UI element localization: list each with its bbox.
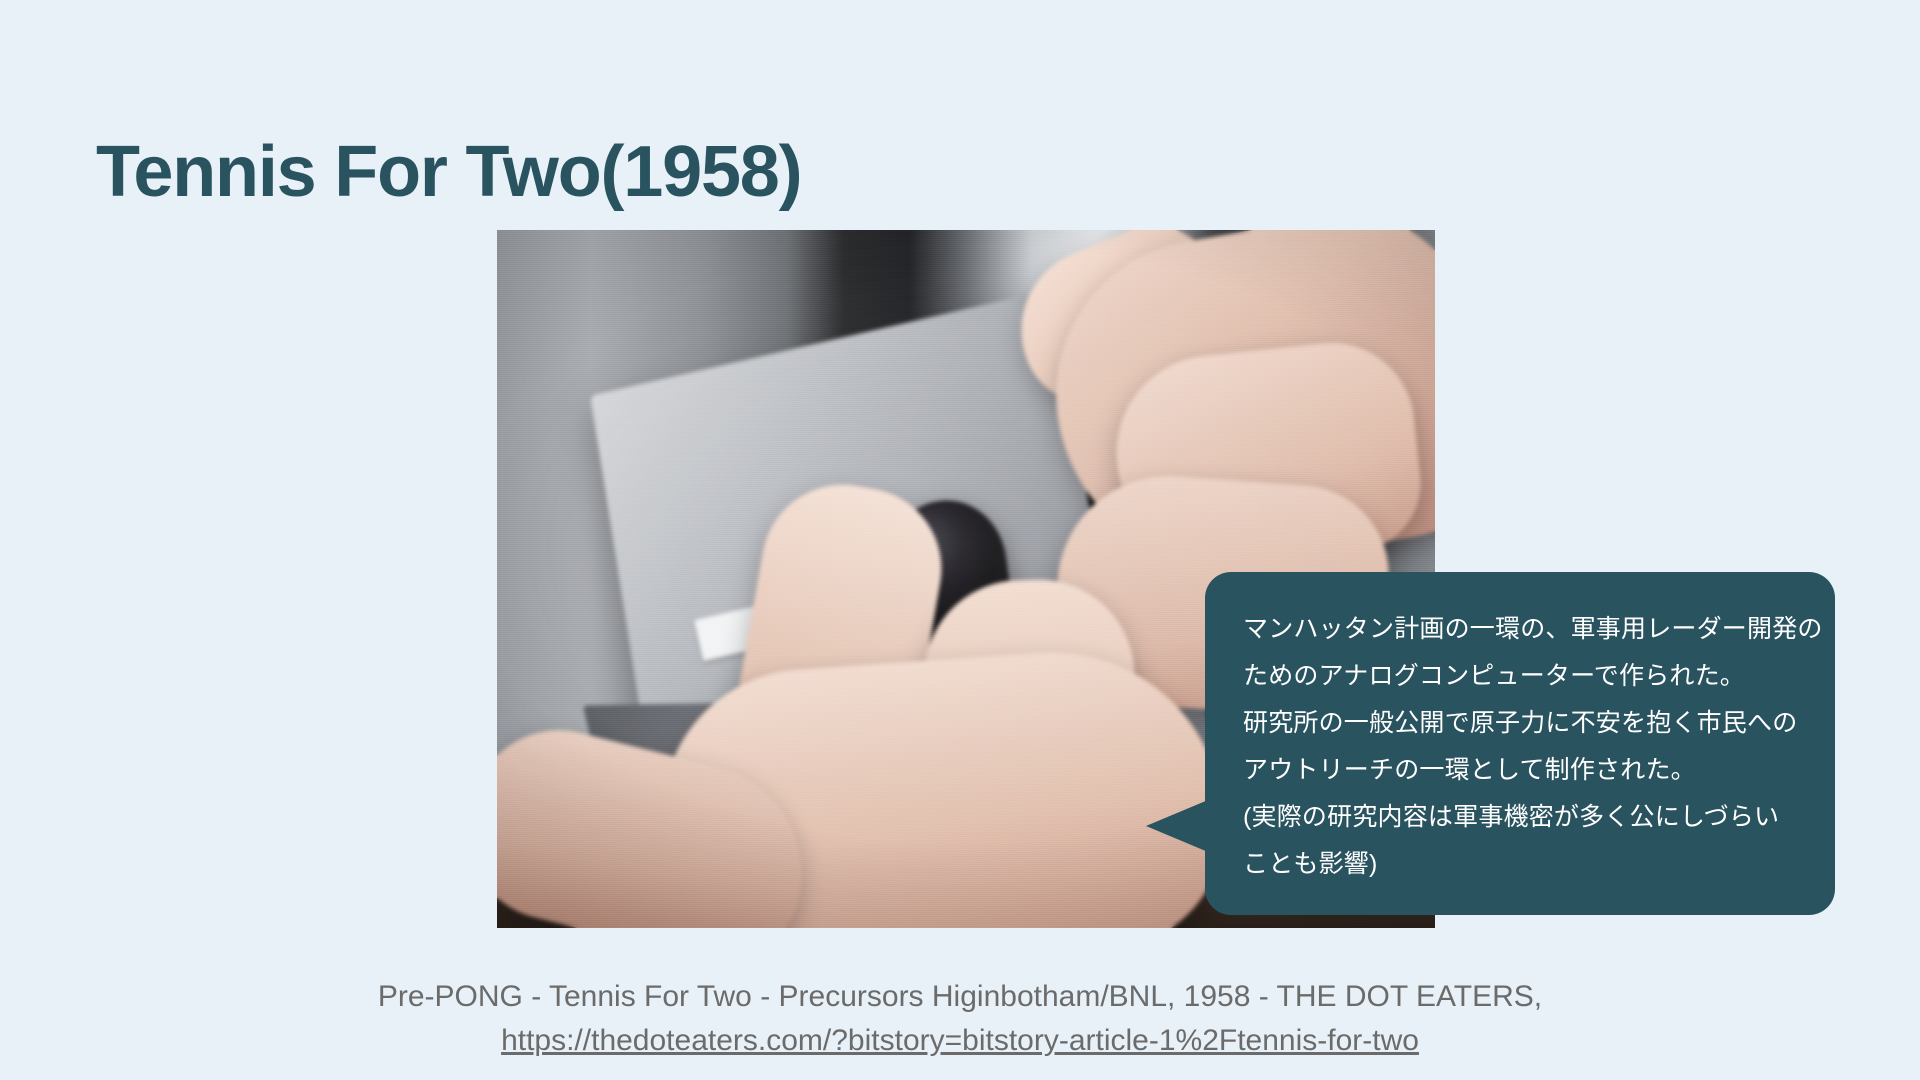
caption-source-link[interactable]: https://thedoteaters.com/?bitstory=bitst… <box>501 1024 1419 1057</box>
slide-canvas: Tennis For Two(1958) マンハッタン計画の一環の、軍事用レーダ… <box>0 0 1920 1080</box>
callout-tail-icon <box>1146 800 1208 852</box>
callout-line: ためのアナログコンピューターで作られた。 <box>1243 653 1801 700</box>
caption: Pre-PONG - Tennis For Two - Precursors H… <box>0 975 1920 1063</box>
callout-line: マンハッタン計画の一環の、軍事用レーダー開発の <box>1243 606 1801 653</box>
callout-line: 研究所の一般公開で原子力に不安を抱く市民への <box>1243 700 1801 747</box>
callout-line: アウトリーチの一環として制作された。 <box>1243 747 1801 794</box>
page-title: Tennis For Two(1958) <box>96 136 801 208</box>
callout-annotation-box: マンハッタン計画の一環の、軍事用レーダー開発の ためのアナログコンピューターで作… <box>1205 572 1835 915</box>
callout-line: (実際の研究内容は軍事機密が多く公にしづらい <box>1243 794 1801 841</box>
callout-line: ことも影響) <box>1243 841 1801 888</box>
caption-text: Pre-PONG - Tennis For Two - Precursors H… <box>0 975 1920 1019</box>
